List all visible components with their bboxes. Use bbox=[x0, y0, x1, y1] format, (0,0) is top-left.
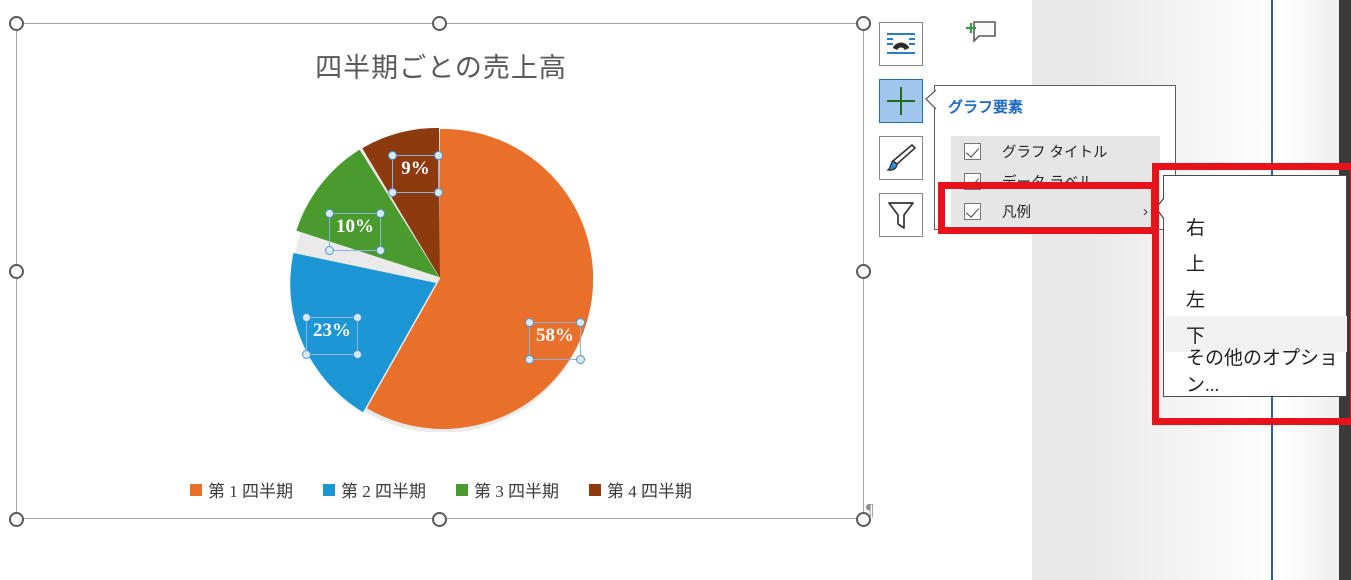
resize-handle-bottom-center[interactable] bbox=[432, 512, 447, 527]
submenu-label-left: 左 bbox=[1186, 285, 1205, 312]
submenu-callout-arrow bbox=[1155, 198, 1165, 220]
menu-item-legend[interactable]: 凡例 › bbox=[951, 196, 1160, 226]
legend-label-q2: 第 2 四半期 bbox=[341, 477, 426, 502]
data-label-q2[interactable]: 23% bbox=[306, 317, 358, 355]
resize-handle-middle-left[interactable] bbox=[9, 264, 24, 279]
label-handle-tl[interactable] bbox=[525, 318, 534, 327]
resize-handle-top-center[interactable] bbox=[432, 16, 447, 31]
pie-chart-plot-area[interactable]: 9% 10% 23% 58% bbox=[288, 127, 593, 432]
legend-item-q1[interactable]: 第 1 四半期 bbox=[190, 477, 293, 502]
chevron-right-icon[interactable]: › bbox=[1143, 203, 1148, 220]
label-handle-tl[interactable] bbox=[388, 151, 397, 160]
chart-legend[interactable]: 第 1 四半期 第 2 四半期 第 3 四半期 第 4 四半期 bbox=[17, 477, 865, 502]
paintbrush-icon bbox=[880, 137, 922, 179]
label-handle-bl[interactable] bbox=[302, 350, 311, 359]
legend-label-q1: 第 1 四半期 bbox=[208, 477, 293, 502]
legend-label-q3: 第 3 四半期 bbox=[474, 477, 559, 502]
resize-handle-bottom-right[interactable] bbox=[856, 512, 871, 527]
chart-styles-button[interactable] bbox=[879, 136, 923, 180]
label-handle-tr[interactable] bbox=[353, 313, 362, 322]
menu-item-chart-title[interactable]: グラフ タイトル bbox=[951, 136, 1160, 166]
legend-item-q2[interactable]: 第 2 四半期 bbox=[323, 477, 426, 502]
pie-chart-svg[interactable] bbox=[288, 127, 593, 432]
label-handle-br[interactable] bbox=[576, 355, 585, 364]
submenu-label-more-options: その他のオプション... bbox=[1186, 343, 1347, 397]
plus-icon bbox=[880, 80, 922, 122]
resize-handle-top-left[interactable] bbox=[9, 16, 24, 31]
submenu-label-top: 上 bbox=[1186, 249, 1205, 276]
label-handle-tl[interactable] bbox=[302, 313, 311, 322]
data-label-q3[interactable]: 10% bbox=[329, 213, 381, 251]
chart-filters-button[interactable] bbox=[879, 193, 923, 237]
legend-item-q3[interactable]: 第 3 四半期 bbox=[456, 477, 559, 502]
submenu-item-left[interactable]: 左 bbox=[1165, 280, 1347, 316]
funnel-icon bbox=[880, 194, 922, 236]
chart-elements-button[interactable] bbox=[879, 79, 923, 123]
submenu-label-right: 右 bbox=[1186, 213, 1205, 240]
data-label-q4[interactable]: 9% bbox=[392, 155, 439, 193]
resize-handle-middle-right[interactable] bbox=[856, 264, 871, 279]
data-label-q4-text: 9% bbox=[401, 158, 430, 179]
label-handle-bl[interactable] bbox=[388, 188, 397, 197]
data-label-q1[interactable]: 58% bbox=[529, 322, 581, 360]
label-handle-tr[interactable] bbox=[576, 318, 585, 327]
label-handle-br[interactable] bbox=[434, 188, 443, 197]
label-handle-br[interactable] bbox=[353, 350, 362, 359]
menu-label-chart-title: グラフ タイトル bbox=[1002, 141, 1108, 162]
chart-elements-menu-title: グラフ要素 bbox=[948, 96, 1023, 117]
submenu-item-right[interactable]: 右 bbox=[1165, 208, 1347, 244]
data-label-q3-text: 10% bbox=[336, 216, 374, 237]
comment-plus-icon bbox=[962, 14, 1002, 44]
label-handle-br[interactable] bbox=[376, 246, 385, 255]
menu-callout-arrow bbox=[925, 90, 937, 110]
menu-label-data-labels: データ ラベル bbox=[1002, 171, 1093, 192]
legend-swatch-q2 bbox=[323, 484, 335, 496]
new-comment-button[interactable] bbox=[962, 14, 1002, 44]
legend-swatch-q3 bbox=[456, 484, 468, 496]
label-handle-bl[interactable] bbox=[325, 246, 334, 255]
label-handle-tr[interactable] bbox=[376, 209, 385, 218]
chart-title[interactable]: 四半期ごとの売上高 bbox=[17, 46, 865, 85]
menu-label-legend: 凡例 bbox=[1002, 201, 1031, 222]
checkbox-legend[interactable] bbox=[964, 203, 981, 220]
chart-elements-menu[interactable]: グラフ要素 グラフ タイトル データ ラベル 凡例 › bbox=[934, 85, 1176, 230]
label-handle-bl[interactable] bbox=[525, 355, 534, 364]
checkbox-chart-title[interactable] bbox=[964, 143, 981, 160]
label-handle-tr[interactable] bbox=[434, 151, 443, 160]
layout-options-button[interactable] bbox=[879, 22, 923, 66]
submenu-item-top[interactable]: 上 bbox=[1165, 244, 1347, 280]
data-label-q2-text: 23% bbox=[313, 320, 351, 341]
resize-handle-bottom-left[interactable] bbox=[9, 512, 24, 527]
label-handle-tl[interactable] bbox=[325, 209, 334, 218]
legend-position-submenu[interactable]: 右 上 左 下 その他のオプション... bbox=[1163, 175, 1347, 397]
data-label-q1-text: 58% bbox=[536, 325, 574, 346]
legend-label-q4: 第 4 四半期 bbox=[607, 477, 692, 502]
chart-object-frame[interactable]: 四半期ごとの売上高 9% 10% bbox=[16, 23, 864, 519]
submenu-item-more-options[interactable]: その他のオプション... bbox=[1165, 352, 1347, 388]
legend-item-q4[interactable]: 第 4 四半期 bbox=[589, 477, 692, 502]
checkbox-data-labels[interactable] bbox=[964, 173, 981, 190]
legend-swatch-q4 bbox=[589, 484, 601, 496]
menu-item-data-labels[interactable]: データ ラベル bbox=[951, 166, 1160, 196]
resize-handle-top-right[interactable] bbox=[856, 16, 871, 31]
layout-options-icon bbox=[880, 23, 922, 65]
legend-swatch-q1 bbox=[190, 484, 202, 496]
